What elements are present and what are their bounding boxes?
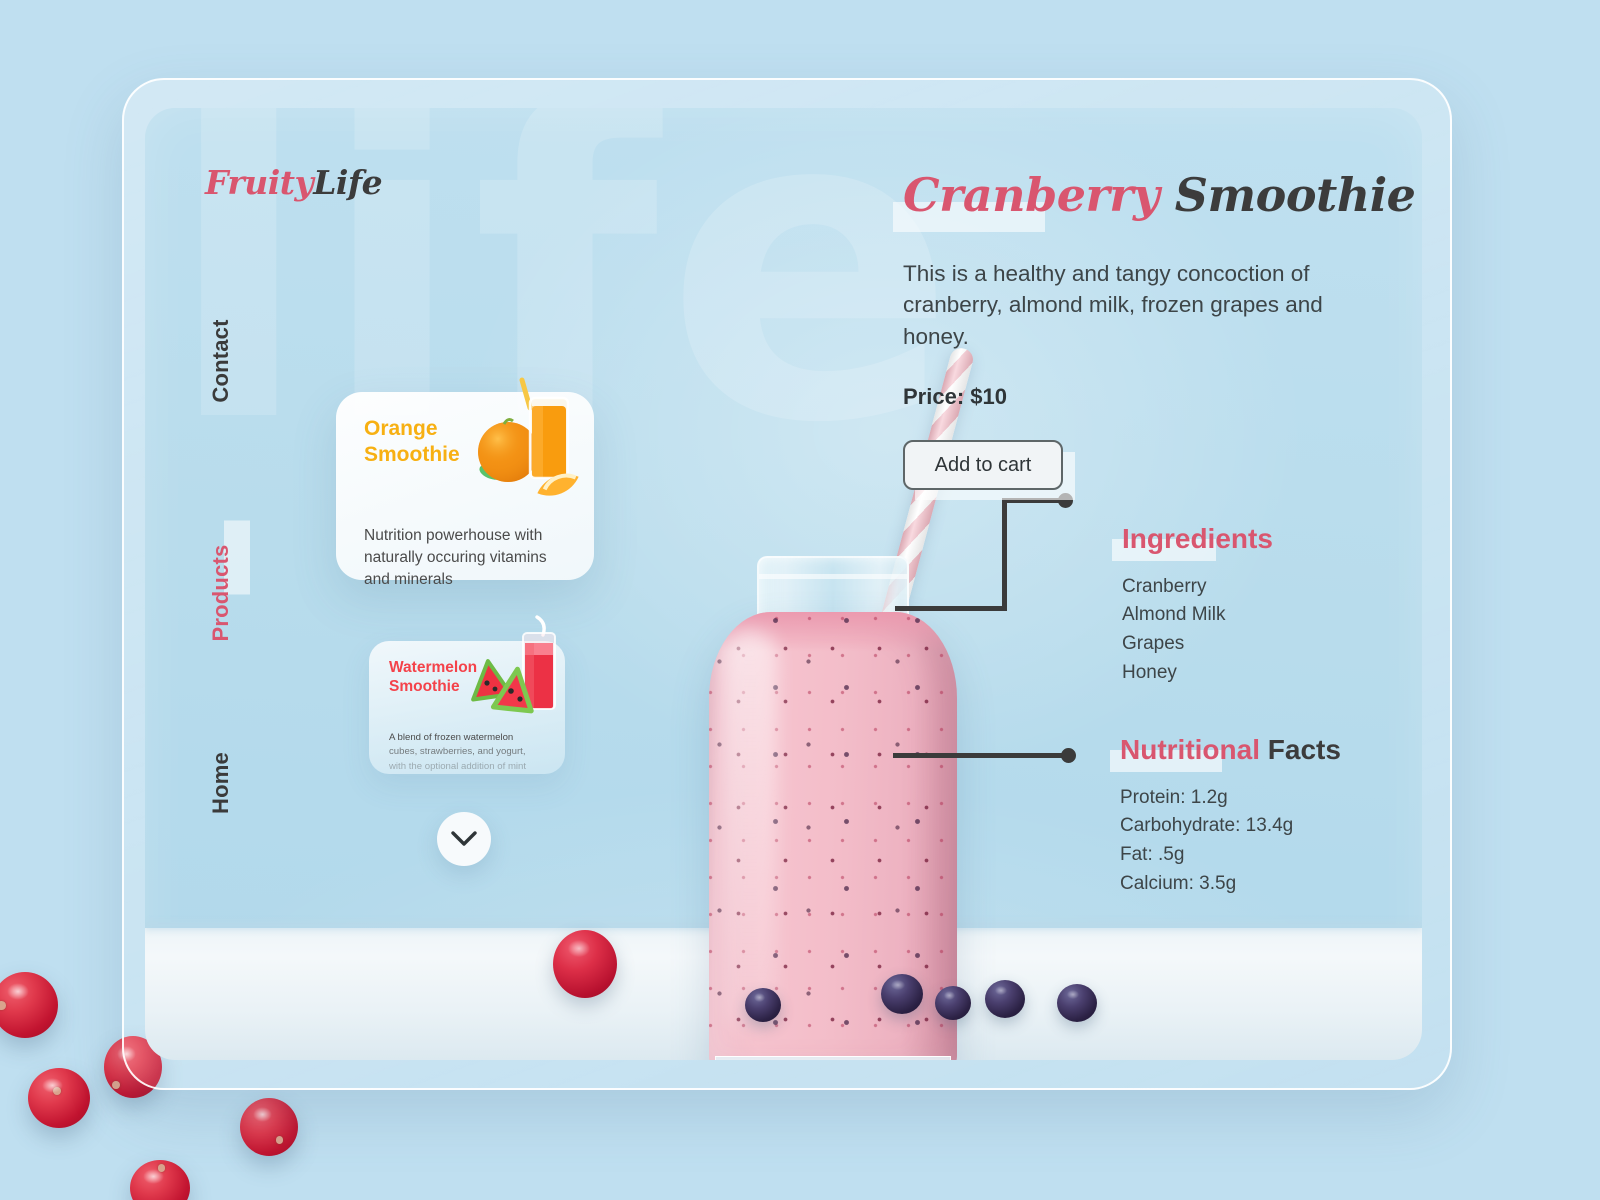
page-title-accent: Cranberry bbox=[903, 168, 1159, 222]
list-item: Calcium: 3.5g bbox=[1120, 870, 1520, 899]
card-watermelon-desc-line-1: A blend of frozen watermelon bbox=[389, 731, 545, 746]
sidebar-nav: Contact Products Home bbox=[198, 300, 244, 830]
brand-logo-part-a: Fruity bbox=[205, 163, 313, 202]
product-price: Price: $10 bbox=[903, 384, 1423, 410]
add-to-cart-button[interactable]: Add to cart bbox=[903, 440, 1063, 490]
nutrition-section: Nutritional Facts Protein: 1.2g Carbohyd… bbox=[1120, 733, 1520, 899]
card-watermelon-description: A blend of frozen watermelon cubes, stra… bbox=[389, 731, 545, 775]
nutrition-list: Protein: 1.2g Carbohydrate: 13.4g Fat: .… bbox=[1120, 784, 1520, 900]
ingredients-list: Cranberry Almond Milk Grapes Honey bbox=[1122, 573, 1522, 689]
list-item: Protein: 1.2g bbox=[1120, 784, 1520, 813]
sidebar-item-products-label: Products bbox=[208, 545, 233, 642]
decor-cranberry bbox=[28, 1068, 90, 1128]
page-title: Cranberry Smoothie bbox=[903, 170, 1423, 222]
list-item: Fat: .5g bbox=[1120, 841, 1520, 870]
list-item: Honey bbox=[1122, 659, 1522, 688]
list-item: Almond Milk bbox=[1122, 601, 1522, 630]
card-orange-smoothie[interactable]: Orange Smoothie Nutrition powerhouse wit… bbox=[336, 392, 594, 580]
nutrition-heading: Nutritional Facts bbox=[1120, 733, 1520, 767]
card-orange-description: Nutrition powerhouse with naturally occu… bbox=[364, 525, 566, 591]
sidebar-item-home-label: Home bbox=[208, 752, 233, 814]
decor-cranberry-table bbox=[553, 930, 617, 998]
sidebar-item-home[interactable]: Home bbox=[208, 752, 234, 814]
decor-blueberry bbox=[935, 986, 971, 1020]
nutrition-heading-accent: Nutritional bbox=[1120, 734, 1260, 765]
decor-blueberry bbox=[745, 988, 781, 1022]
decor-blueberry bbox=[881, 974, 923, 1014]
card-orange-title: Orange Smoothie bbox=[364, 416, 566, 467]
sidebar-item-contact[interactable]: Contact bbox=[208, 319, 234, 402]
ingredients-heading-accent: Ingredients bbox=[1122, 523, 1273, 554]
sidebar-item-products[interactable]: Products bbox=[208, 545, 234, 642]
chevron-down-icon bbox=[451, 831, 477, 847]
page-title-rest: Smoothie bbox=[1159, 168, 1415, 222]
nutrition-heading-rest: Facts bbox=[1260, 734, 1341, 765]
decor-blueberry bbox=[1057, 984, 1097, 1022]
decor-blueberry bbox=[985, 980, 1025, 1018]
nutrition-leader-line bbox=[893, 748, 1085, 764]
card-watermelon-smoothie[interactable]: Watermelon Smoothie A blend of frozen wa… bbox=[369, 641, 565, 774]
card-watermelon-title: Watermelon Smoothie bbox=[389, 659, 545, 697]
decor-cranberry bbox=[240, 1098, 298, 1156]
ingredients-section: Ingredients Cranberry Almond Milk Grapes… bbox=[1122, 522, 1522, 688]
brand-logo[interactable]: FruityLife bbox=[205, 163, 382, 202]
list-item: Cranberry bbox=[1122, 573, 1522, 602]
list-item: Carbohydrate: 13.4g bbox=[1120, 812, 1520, 841]
bottle-base bbox=[715, 1056, 951, 1060]
card-watermelon-desc-line-3: with the optional addition of mint bbox=[389, 760, 545, 775]
sidebar-item-contact-label: Contact bbox=[208, 319, 233, 402]
ingredients-heading: Ingredients bbox=[1122, 522, 1522, 556]
decor-cranberry bbox=[130, 1160, 190, 1200]
list-item: Grapes bbox=[1122, 630, 1522, 659]
brand-logo-part-b: Life bbox=[313, 163, 382, 202]
ingredients-leader-line bbox=[895, 498, 1085, 618]
add-to-cart-wrap: Add to cart bbox=[903, 440, 1083, 500]
card-watermelon-desc-line-2: cubes, strawberries, and yogurt, bbox=[389, 745, 545, 760]
scroll-down-button[interactable] bbox=[437, 812, 491, 866]
product-description: This is a healthy and tangy concoction o… bbox=[903, 258, 1333, 353]
product-detail: Cranberry Smoothie This is a healthy and… bbox=[903, 170, 1423, 500]
decor-cranberry bbox=[0, 972, 58, 1038]
page-root: life bbox=[0, 0, 1600, 1200]
